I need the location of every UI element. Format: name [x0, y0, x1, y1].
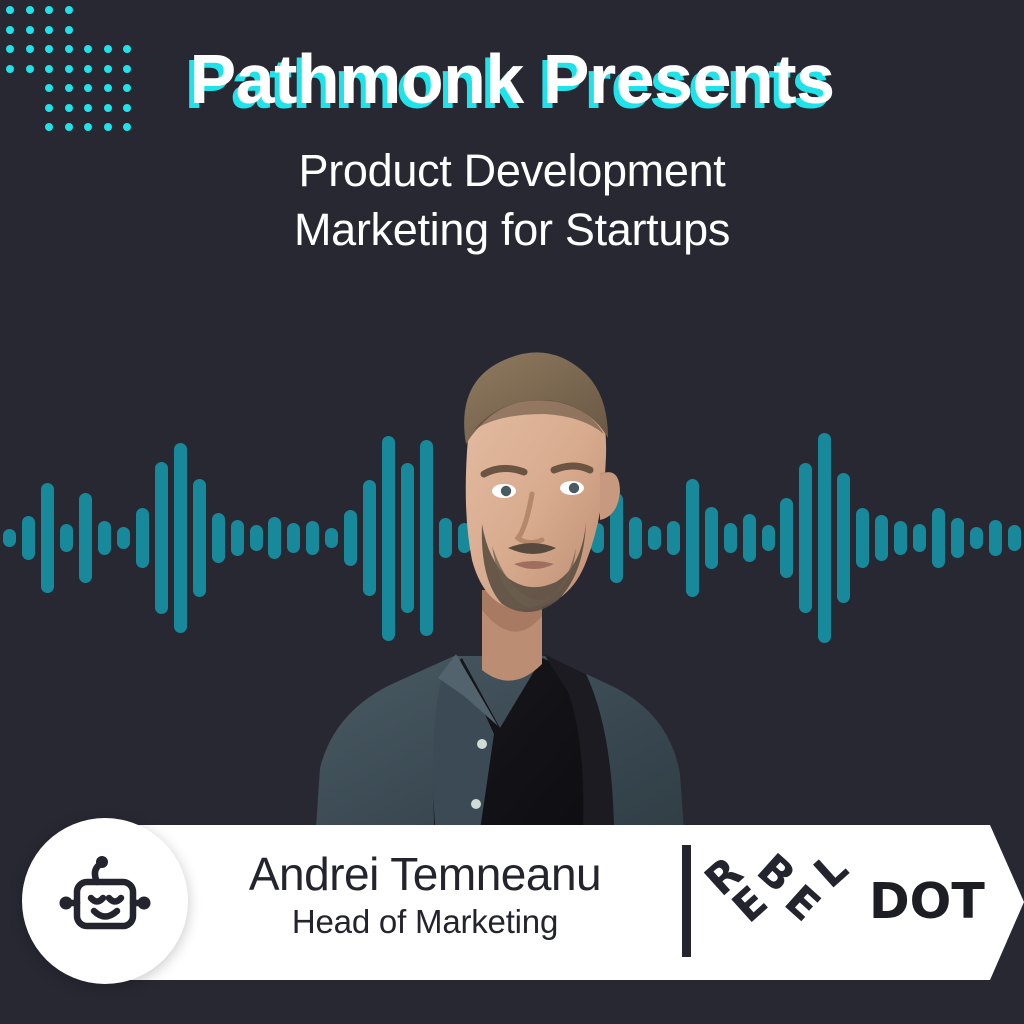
- speaker-role: Head of Marketing: [190, 902, 660, 942]
- waveform-bar: [762, 525, 775, 551]
- waveform-bar: [913, 524, 926, 552]
- waveform-bar: [780, 498, 793, 578]
- grid-dot: [45, 26, 53, 34]
- grid-dot: [45, 123, 53, 131]
- banner-divider: [682, 845, 691, 957]
- waveform-bar: [705, 507, 718, 569]
- waveform-bar: [60, 524, 73, 552]
- waveform-bar: [856, 508, 869, 568]
- waveform-bar: [799, 463, 812, 613]
- waveform-bar: [743, 514, 756, 562]
- avatar: [22, 818, 188, 984]
- waveform-bar: [894, 521, 907, 555]
- grid-dot: [84, 123, 92, 131]
- waveform-bar: [22, 516, 35, 560]
- episode-title-line2: Marketing for Startups: [0, 201, 1024, 260]
- waveform-bar: [1008, 525, 1021, 551]
- waveform-bar: [79, 493, 92, 583]
- rebeldot-logo-dot: DOT: [869, 877, 985, 926]
- brand-title: Pathmonk Presents: [189, 42, 834, 116]
- episode-title-line1: Product Development: [298, 145, 725, 196]
- rebeldot-logo-rebel: REBEL: [706, 840, 866, 962]
- waveform-bar: [932, 508, 945, 568]
- waveform-bar: [875, 515, 888, 561]
- episode-title: Product Development Marketing for Startu…: [0, 142, 1024, 260]
- waveform-bar: [136, 508, 149, 568]
- waveform-bar: [837, 473, 850, 603]
- speaker-info: Andrei Temneanu Head of Marketing: [190, 848, 660, 942]
- speaker-name: Andrei Temneanu: [190, 848, 660, 900]
- waveform-bar: [98, 521, 111, 555]
- grid-dot: [123, 123, 131, 131]
- waveform-bar: [268, 517, 281, 559]
- rebeldot-logo: REBEL DOT: [706, 840, 986, 962]
- grid-dot: [65, 6, 73, 14]
- podcast-promo-card: Pathmonk Presents Product Development Ma…: [0, 0, 1024, 1024]
- waveform-bar: [989, 520, 1002, 556]
- waveform-bar: [155, 462, 168, 614]
- waveform-bar: [174, 443, 187, 633]
- waveform-bar: [193, 479, 206, 597]
- brand-title-wrap: Pathmonk Presents: [0, 42, 1024, 116]
- grid-dot: [45, 6, 53, 14]
- waveform-bar: [970, 527, 983, 549]
- waveform-bar: [231, 520, 244, 556]
- waveform-bar: [951, 518, 964, 558]
- waveform-bar: [117, 527, 130, 549]
- waveform-bar: [724, 523, 737, 553]
- grid-dot: [6, 6, 14, 14]
- waveform-bar: [212, 513, 225, 563]
- waveform-bar: [3, 529, 16, 547]
- waveform-bar: [250, 525, 263, 551]
- robot-smile-icon: [55, 851, 155, 951]
- grid-dot: [65, 123, 73, 131]
- speaker-portrait: [286, 298, 706, 858]
- grid-dot: [6, 26, 14, 34]
- grid-dot: [26, 26, 34, 34]
- grid-dot: [65, 26, 73, 34]
- grid-dot: [104, 123, 112, 131]
- waveform-bar: [818, 433, 831, 643]
- waveform-bar: [41, 483, 54, 593]
- grid-dot: [26, 6, 34, 14]
